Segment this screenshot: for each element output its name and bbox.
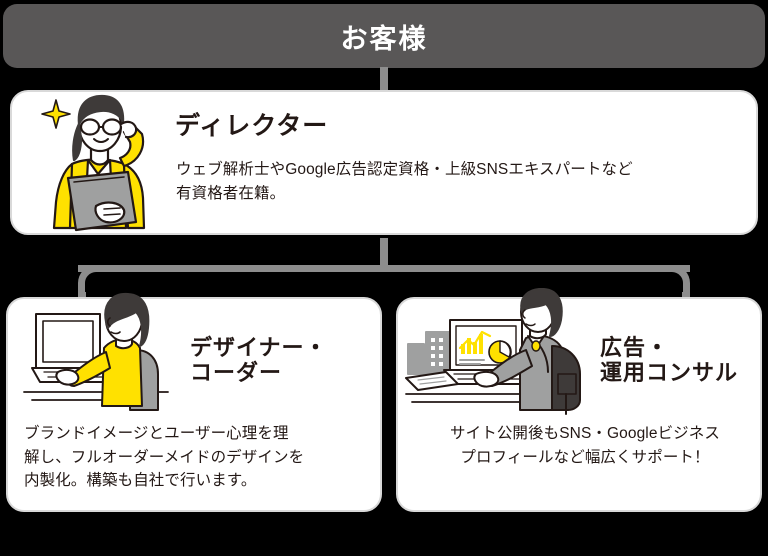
- org-diagram-root: お客様: [0, 0, 768, 556]
- customer-banner: お客様: [3, 4, 765, 68]
- bracket-horizontal-bar: [78, 265, 690, 272]
- card-description-consultant: サイト公開後もSNS・Googleビジネス プロフィールなど幅広くサポート！: [420, 422, 750, 469]
- card-title-designer: デザイナー・ コーダー: [190, 336, 328, 385]
- card-description-designer: ブランドイメージとユーザー心理を理 解し、フルオーダーメイドのデザインを 内製化…: [24, 422, 364, 493]
- banner-title: お客様: [341, 17, 428, 56]
- woman-at-desktop-computer-icon: [18, 288, 188, 418]
- card-description-director: ウェブ解析士やGoogle広告認定資格・上級SNSエキスパートなど 有資格者在籍…: [176, 158, 746, 205]
- man-with-backpack-at-laptop-with-charts-icon: [402, 288, 598, 418]
- card-title-consultant: 広告・ 運用コンサル: [600, 336, 738, 385]
- woman-with-glasses-holding-laptop-icon: [24, 78, 184, 238]
- card-title-director: ディレクター: [175, 112, 328, 140]
